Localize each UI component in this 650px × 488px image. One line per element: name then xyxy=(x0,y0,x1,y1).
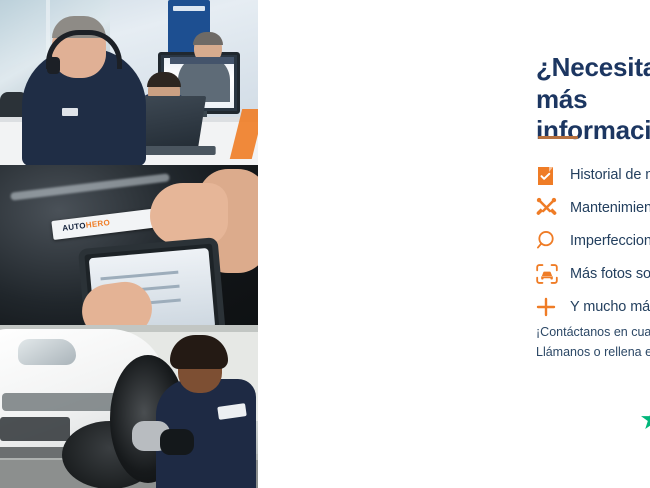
photo-column: AUTOHERO xyxy=(0,0,258,488)
mechanic-glove-right xyxy=(160,429,194,455)
plus-icon xyxy=(536,297,570,317)
feature-item-maintenance-history: Historial de mantenimientos xyxy=(536,158,650,191)
feature-label: Imperfecciones xyxy=(570,233,650,249)
trustpilot-logo: Trustpilot xyxy=(641,408,650,435)
monitor-screen-bar xyxy=(170,57,234,64)
feature-item-and-more: Y mucho más xyxy=(536,290,650,323)
magnifier-icon xyxy=(536,230,570,251)
feature-label: Historial de mantenimientos xyxy=(570,167,650,183)
agent-name-badge xyxy=(62,108,78,116)
car-photo-frame-icon xyxy=(536,264,570,284)
clipboard-check-icon xyxy=(536,164,570,186)
call-center-agents-photo xyxy=(0,0,258,165)
car-headlamp xyxy=(18,339,76,365)
headline-line-1: ¿Necesitas xyxy=(536,52,650,82)
feature-item-maintenance-done: Mantenimiento realizado xyxy=(536,191,650,224)
feature-list: Historial de mantenimientos Mantenimient… xyxy=(536,158,650,323)
content-panel: ¿Necesitas más información? Estamos enca… xyxy=(258,0,650,488)
feature-label: Y mucho más xyxy=(570,299,650,315)
feature-item-imperfections: Imperfecciones xyxy=(536,224,650,257)
feature-label: Mantenimiento realizado xyxy=(570,200,650,216)
tools-icon xyxy=(536,197,570,218)
car-grille-lower xyxy=(0,417,70,441)
feature-label: Más fotos sobre el coche xyxy=(570,266,650,282)
autohero-ruler-logo: AUTOHERO xyxy=(62,218,111,233)
promo-banner: AUTOHERO xyxy=(0,0,650,488)
contact-line-2: Llámanos o rellena el formulario de cont… xyxy=(536,342,650,362)
contact-text: ¡Contáctanos en cualquier momento para m… xyxy=(536,322,650,363)
background-person-hair xyxy=(193,32,223,45)
ruler-brand-a: AUTO xyxy=(62,221,87,233)
car-inspection-ruler-photo: AUTOHERO xyxy=(0,165,258,325)
trustpilot-widget[interactable]: Trustpilot Excelente EMPRESA VERIFICADA xyxy=(641,386,650,456)
ruler-brand-b: HERO xyxy=(85,218,110,230)
tablet-line-1 xyxy=(100,271,178,281)
mechanic-wheel-check-photo xyxy=(0,325,258,488)
inspector-hand-upper xyxy=(150,183,228,245)
title-divider xyxy=(538,136,578,139)
trustpilot-star-icon xyxy=(641,408,650,435)
contact-line-1: ¡Contáctanos en cualquier momento para m… xyxy=(536,322,650,342)
page-title: ¿Necesitas más información? xyxy=(536,52,650,147)
feature-item-more-photos: Más fotos sobre el coche xyxy=(536,257,650,290)
